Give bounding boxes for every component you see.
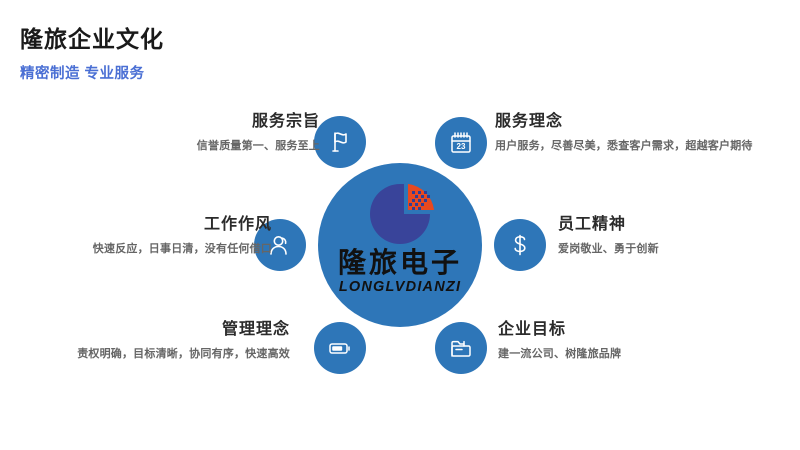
item-desc-company-goal: 建一流公司、树隆旅品牌 — [498, 345, 798, 363]
svg-text:23: 23 — [457, 142, 466, 151]
item-title-company-goal: 企业目标 — [498, 320, 798, 340]
node-service-concept[interactable]: 23 — [435, 117, 487, 169]
item-text-management-concept: 管理理念 责权明确，目标清晰，协同有序，快速高效 — [0, 320, 290, 363]
item-title-service-concept: 服务理念 — [495, 112, 765, 132]
node-service-purpose[interactable] — [314, 116, 366, 168]
calendar-23-icon: 23 — [448, 130, 474, 156]
longlv-logo-mark-icon — [362, 180, 438, 244]
item-desc-staff-spirit: 爱岗敬业、勇于创新 — [558, 240, 800, 258]
item-desc-management-concept: 责权明确，目标清晰，协同有序，快速高效 — [0, 345, 290, 363]
item-desc-service-concept: 用户服务，尽善尽美，悉查客户需求，超越客户期待 — [495, 137, 765, 155]
item-text-work-style: 工作作风 快速反应，日事日清，没有任何借口 — [0, 215, 272, 258]
item-text-service-purpose: 服务宗旨 信誉质量第一、服务至上 — [20, 112, 320, 155]
page-subtitle: 精密制造 专业服务 — [20, 62, 145, 83]
item-text-service-concept: 服务理念 用户服务，尽善尽美，悉查客户需求，超越客户期待 — [495, 112, 765, 155]
item-desc-work-style: 快速反应，日事日清，没有任何借口 — [0, 240, 272, 258]
item-text-staff-spirit: 员工精神 爱岗敬业、勇于创新 — [558, 215, 800, 258]
dollar-icon — [507, 232, 533, 258]
hub-company-name: 隆旅电子 — [318, 249, 482, 277]
item-title-service-purpose: 服务宗旨 — [20, 112, 320, 132]
item-text-company-goal: 企业目标 建一流公司、树隆旅品牌 — [498, 320, 798, 363]
hub-company-pinyin: LONGLVDIANZI — [318, 280, 482, 295]
item-title-staff-spirit: 员工精神 — [558, 215, 800, 235]
infographic-canvas: 隆旅企业文化 精密制造 专业服务 — [0, 0, 800, 450]
battery-icon — [327, 335, 353, 361]
node-company-goal[interactable] — [435, 322, 487, 374]
folder-icon — [448, 335, 474, 361]
flag-icon — [327, 129, 353, 155]
node-management-concept[interactable] — [314, 322, 366, 374]
item-desc-service-purpose: 信誉质量第一、服务至上 — [20, 137, 320, 155]
page-title: 隆旅企业文化 — [20, 20, 164, 54]
item-title-management-concept: 管理理念 — [0, 320, 290, 340]
center-hub-circle: 隆旅电子 LONGLVDIANZI — [318, 163, 482, 327]
item-title-work-style: 工作作风 — [0, 215, 272, 235]
node-staff-spirit[interactable] — [494, 219, 546, 271]
